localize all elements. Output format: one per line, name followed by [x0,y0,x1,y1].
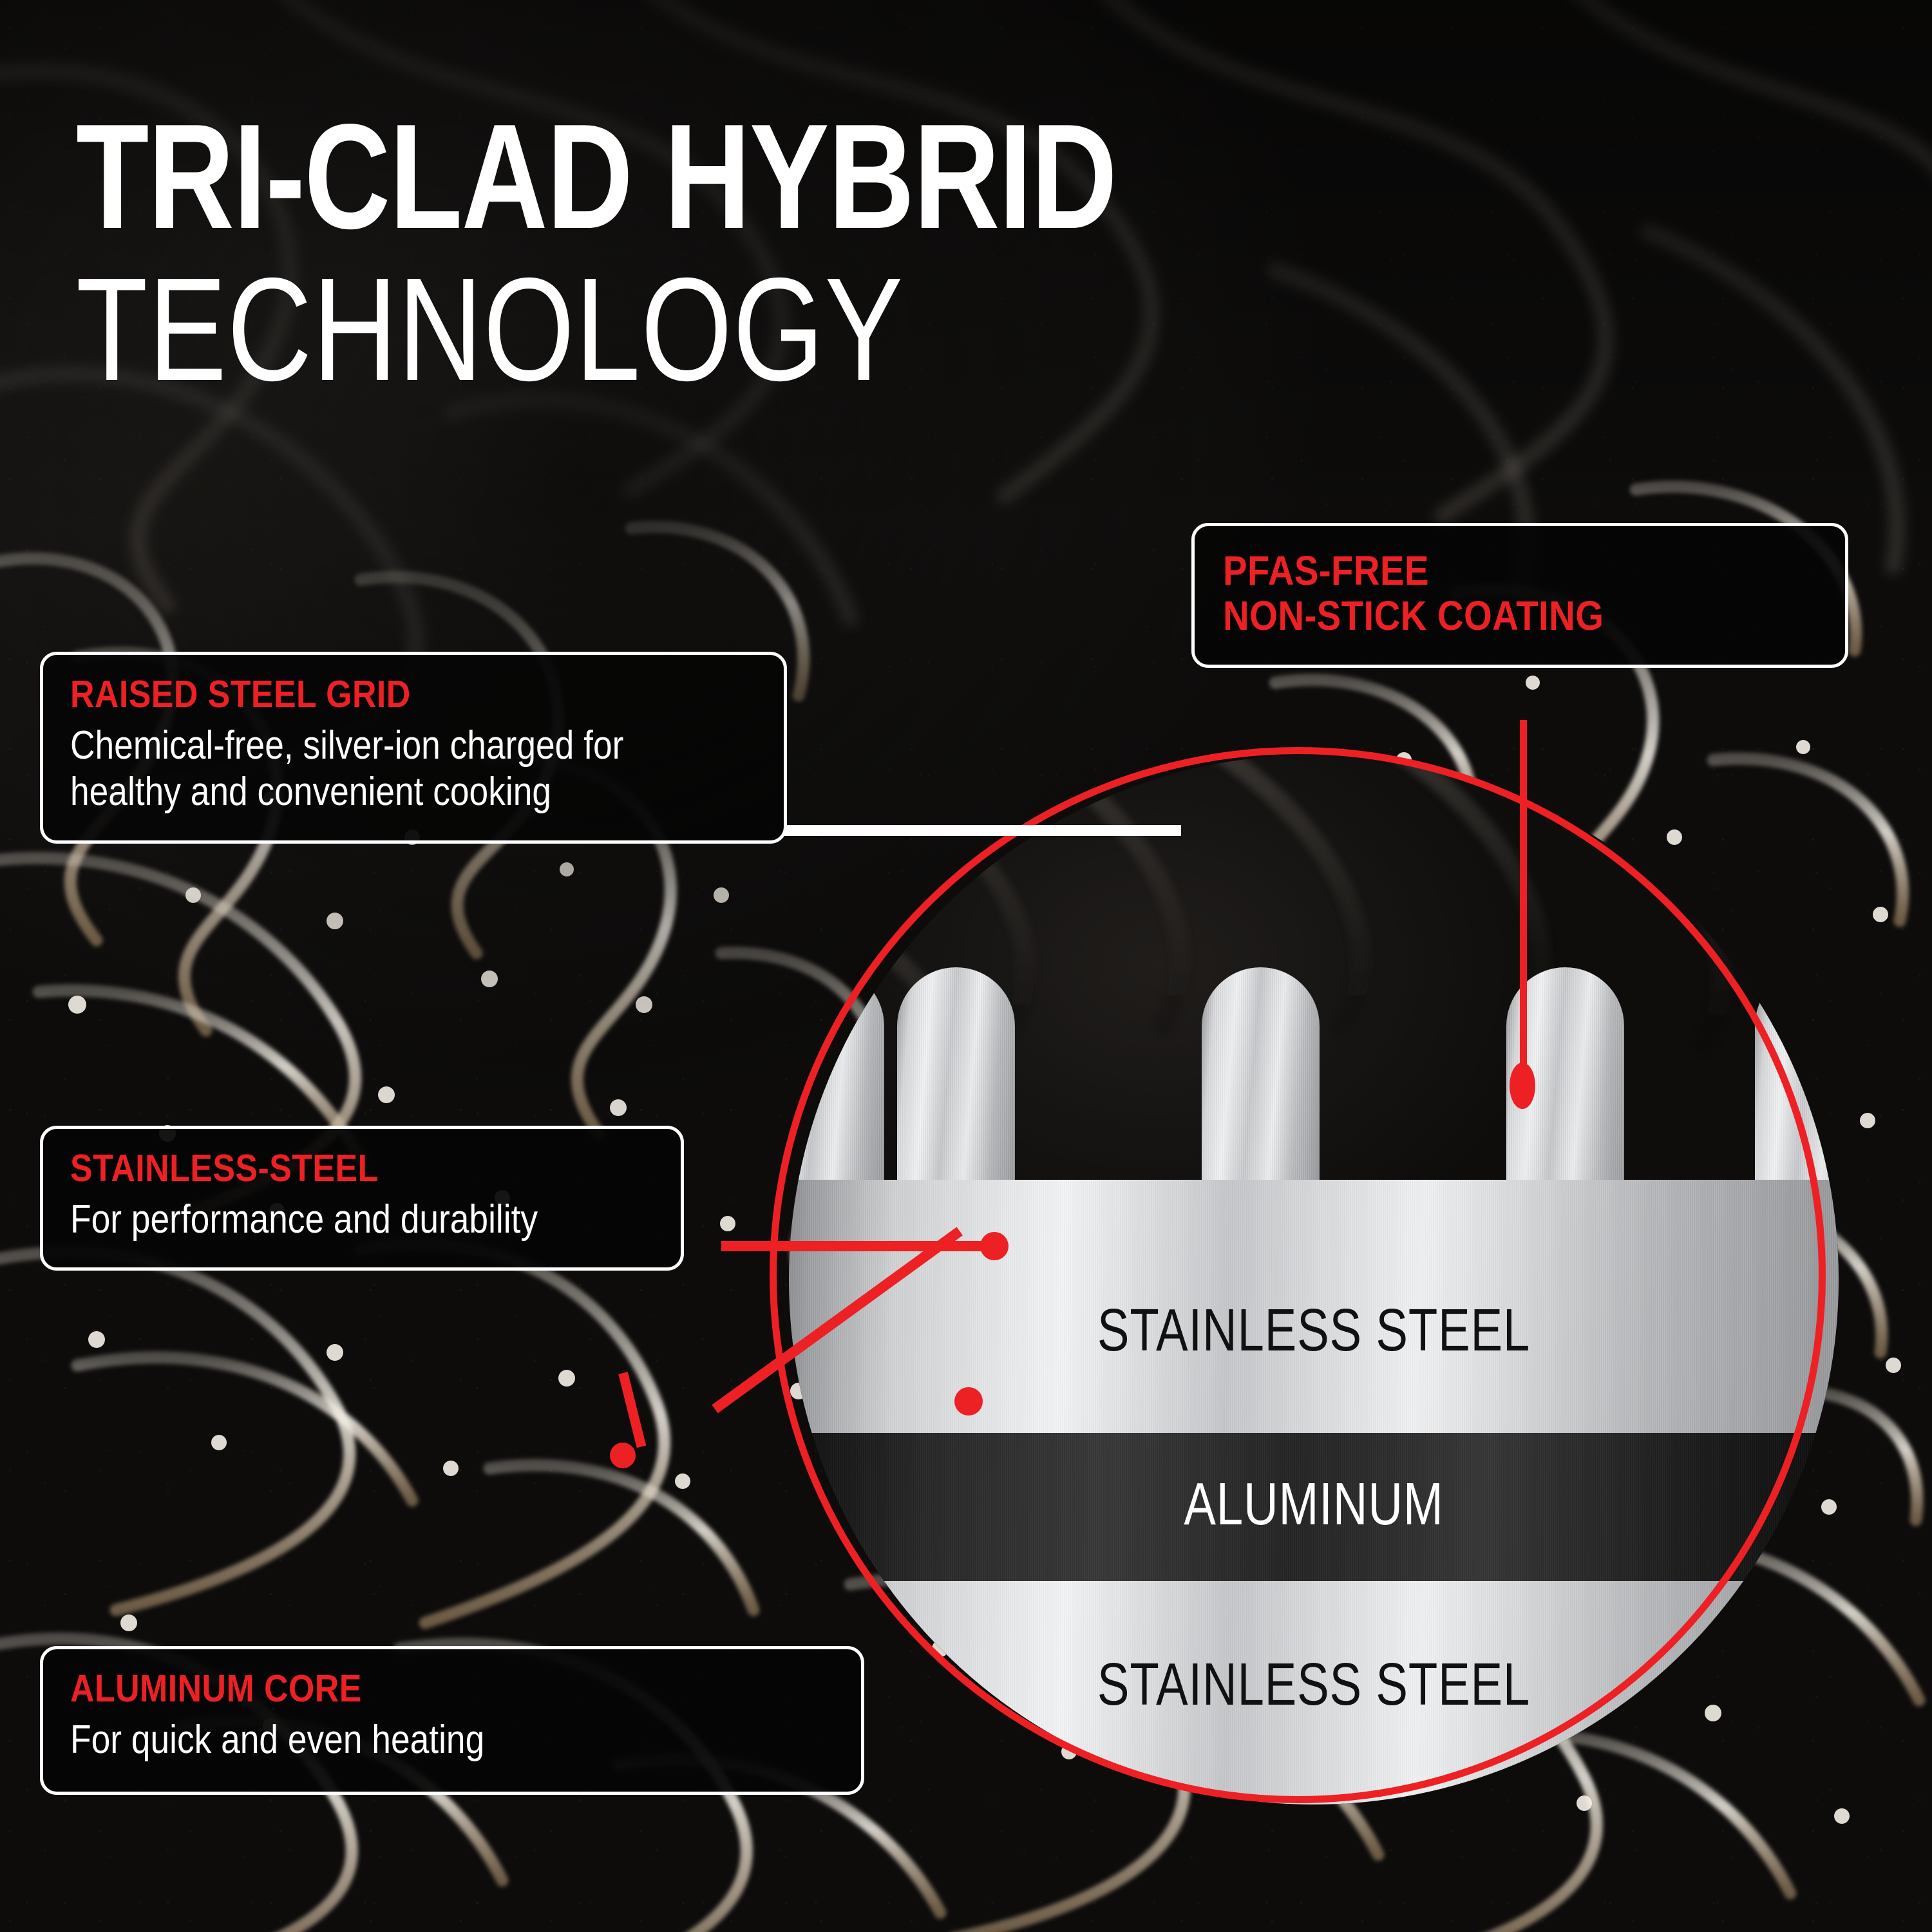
callout-aluminum-core[interactable]: ALUMINUM CORE For quick and even heating [40,1646,864,1795]
title-line-2: TECHNOLOGY [76,260,1116,401]
callout-heading-pfas-free-line-2: NON-STICK COATING [1223,593,1748,638]
connector-pfas-free [1520,720,1527,1082]
title-line-1: TRI-CLAD HYBRID [76,108,1116,245]
cross-section-diagram: STAINLESS STEEL ALUMINUM STAINLESS STEEL [770,747,1864,1842]
callout-heading-stainless-steel: STAINLESS-STEEL [70,1148,585,1189]
callout-raised-steel-grid[interactable]: RAISED STEEL GRID Chemical-free, silver-… [40,652,787,844]
connector-dot-stainless-steel [980,1232,1009,1260]
callout-pfas-free[interactable]: PFAS-FREE NON-STICK COATING [1191,523,1848,668]
callout-body-aluminum-core: For quick and even heating [70,1717,728,1764]
magnifier-ring [770,747,1826,1803]
callout-stainless-steel[interactable]: STAINLESS-STEEL For performance and dura… [40,1126,684,1271]
connector-raised-steel-grid [784,825,1181,836]
connector-dot-steel-box-stub [610,1443,636,1468]
connector-dot-aluminum-core [954,1387,983,1416]
callout-heading-pfas-free-line-1: PFAS-FREE [1223,548,1748,593]
callout-body-raised-steel-grid: Chemical-free, silver-ion charged for he… [70,723,661,816]
infographic-canvas: TRI-CLAD HYBRID TECHNOLOGY [0,0,1932,1932]
page-title: TRI-CLAD HYBRID TECHNOLOGY [76,108,1376,401]
connector-stainless-steel [721,1241,1005,1251]
callout-body-stainless-steel: For performance and durability [70,1197,573,1244]
callout-heading-aluminum-core: ALUMINUM CORE [70,1669,743,1709]
callout-heading-raised-steel-grid: RAISED STEEL GRID [70,674,676,715]
connector-dot-pfas-free [1510,1063,1535,1109]
